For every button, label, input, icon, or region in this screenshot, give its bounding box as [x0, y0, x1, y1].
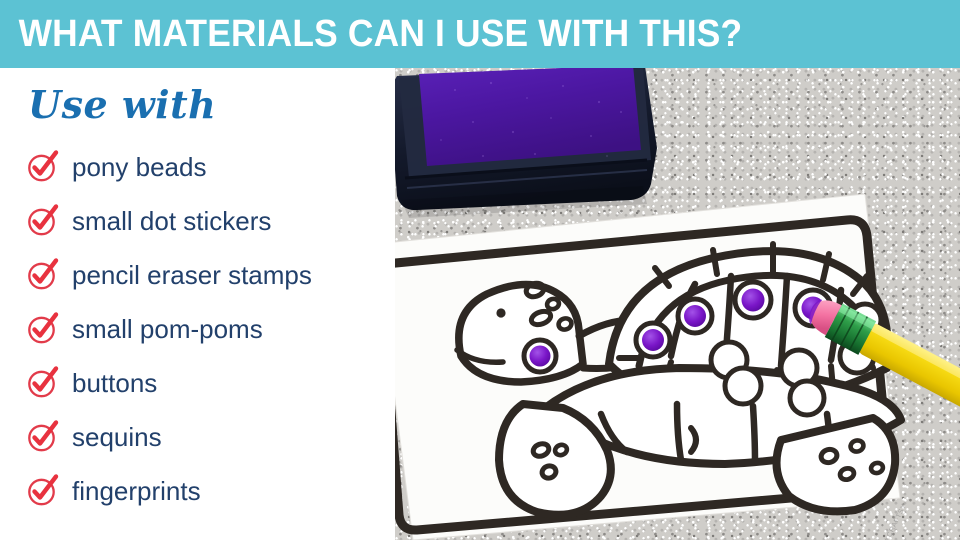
- list-item-label: pony beads: [72, 154, 206, 180]
- page-title: WHAT MATERIALS CAN I USE WITH THIS?: [0, 15, 742, 53]
- list-item-label: sequins: [72, 424, 162, 450]
- list-item: pencil eraser stamps: [26, 248, 396, 302]
- circled-checkmark-icon: [26, 419, 60, 453]
- stamped-dot: [735, 282, 771, 318]
- circled-checkmark-icon: [26, 311, 60, 345]
- list-item: buttons: [26, 356, 396, 410]
- materials-panel: Use with pony beads sma: [0, 68, 395, 540]
- stamped-dot: [636, 323, 670, 357]
- list-item-label: small pom-poms: [72, 316, 263, 342]
- purple-ink-pad: [395, 68, 657, 218]
- list-item-label: buttons: [72, 370, 157, 396]
- list-item-label: pencil eraser stamps: [72, 262, 312, 288]
- circled-checkmark-icon: [26, 473, 60, 507]
- list-item: pony beads: [26, 140, 396, 194]
- circled-checkmark-icon: [26, 203, 60, 237]
- empty-dot-circle: [725, 368, 761, 404]
- stamped-dot: [678, 299, 712, 333]
- empty-dot-circle: [790, 381, 824, 415]
- activity-photo: ARTSY CRAFTSY: [395, 68, 960, 540]
- slide-root: WHAT MATERIALS CAN I USE WITH THIS? Use …: [0, 0, 960, 540]
- stamped-dot: [524, 340, 556, 372]
- list-item: sequins: [26, 410, 396, 464]
- photo-illustration: [395, 68, 960, 540]
- list-item: fingerprints: [26, 464, 396, 518]
- circled-checkmark-icon: [26, 257, 60, 291]
- list-item: small pom-poms: [26, 302, 396, 356]
- circled-checkmark-icon: [26, 149, 60, 183]
- ink-surface: [419, 68, 641, 166]
- circled-checkmark-icon: [26, 365, 60, 399]
- use-with-heading: Use with: [28, 86, 216, 124]
- list-item: small dot stickers: [26, 194, 396, 248]
- materials-list: pony beads small dot stickers: [26, 140, 396, 518]
- header-banner: WHAT MATERIALS CAN I USE WITH THIS?: [0, 0, 960, 68]
- list-item-label: small dot stickers: [72, 208, 271, 234]
- list-item-label: fingerprints: [72, 478, 201, 504]
